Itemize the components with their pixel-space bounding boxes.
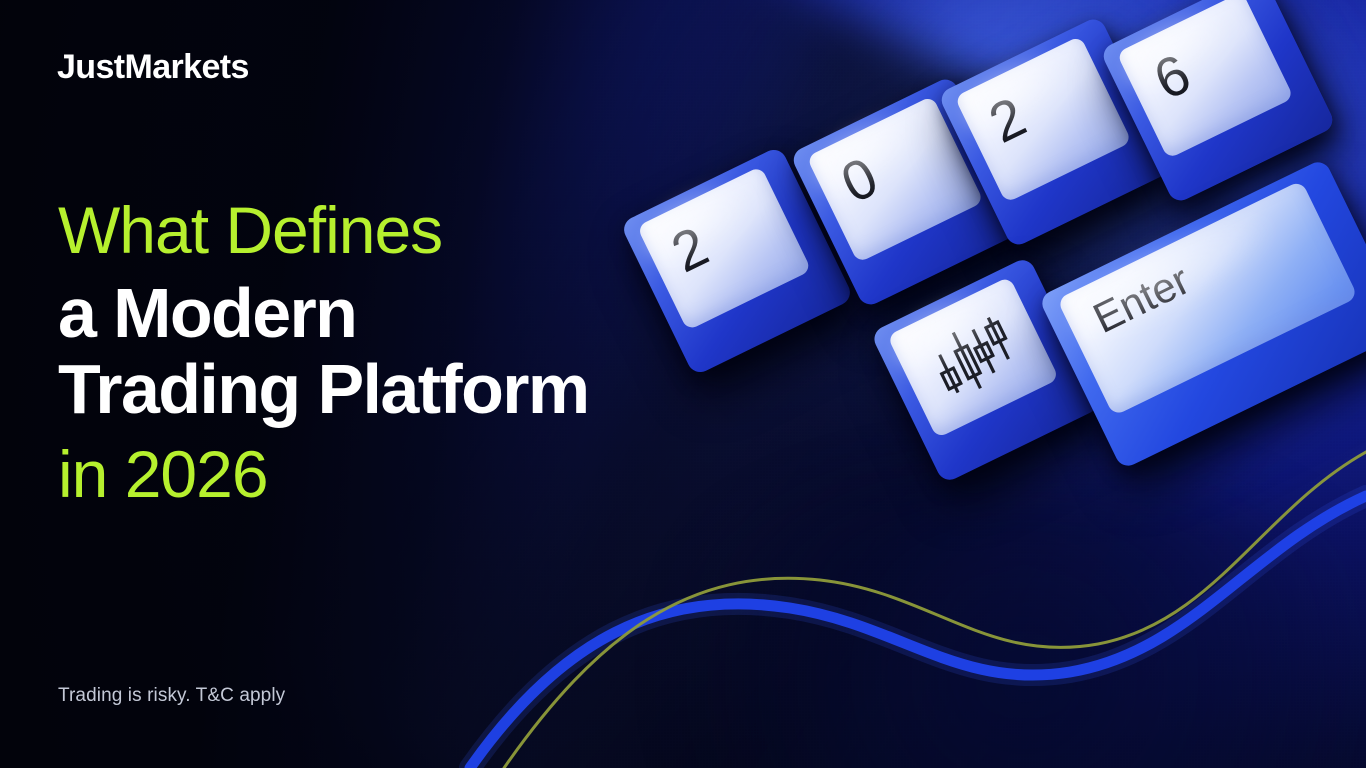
risk-disclaimer: Trading is risky. T&C apply <box>58 685 285 707</box>
headline-line-1: What Defines <box>58 196 818 265</box>
keycap-label: 2 <box>981 88 1034 152</box>
keycap-label: 6 <box>1146 45 1199 109</box>
headline-line-3: Trading Platform <box>58 353 818 426</box>
headline-line-2: a Modern <box>58 277 818 350</box>
promo-banner: 2 0 2 6 <box>0 0 1366 768</box>
brand-logo[interactable]: JustMarkets <box>57 48 249 87</box>
headline-line-4: in 2026 <box>58 440 818 509</box>
candlestick-chart-icon <box>917 303 1028 411</box>
keycap-label: 0 <box>833 148 886 212</box>
headline-block: What Defines a Modern Trading Platform i… <box>58 196 818 509</box>
